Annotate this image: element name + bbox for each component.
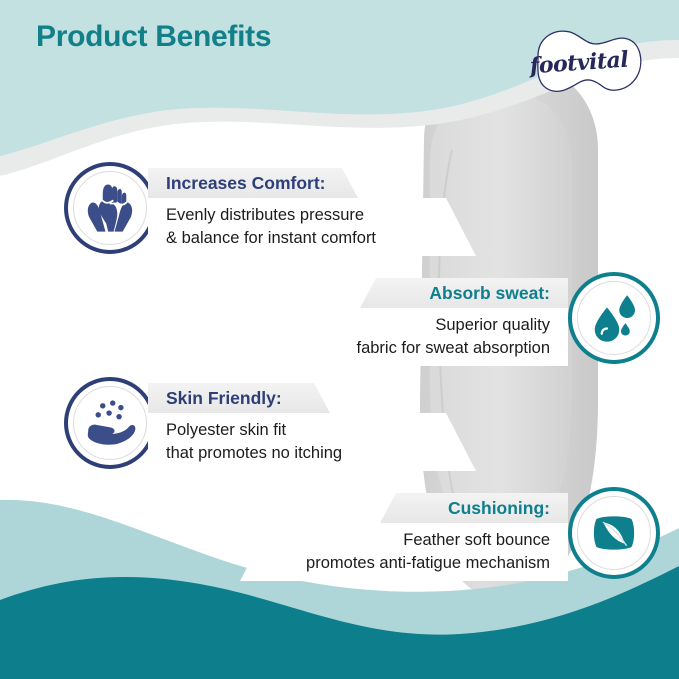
benefit-title: Increases Comfort: [148, 168, 358, 198]
page-title: Product Benefits [36, 20, 271, 54]
benefit-body: Feather soft bounce promotes anti-fatigu… [240, 523, 568, 581]
product-benefits-infographic: Product Benefits footvital [0, 0, 679, 679]
brand-logo: footvital [514, 26, 644, 100]
hand-with-particles-glyph [81, 394, 139, 452]
pillow-feather-icon [568, 487, 660, 579]
benefit-title: Skin Friendly: [148, 383, 330, 413]
benefit-body: Evenly distributes pressure & balance fo… [148, 198, 476, 256]
benefit-body-line: & balance for instant comfort [166, 227, 376, 250]
benefit-body-line: Superior quality [435, 314, 550, 337]
pillow-feather-glyph [586, 505, 642, 561]
benefit-body-line: Evenly distributes pressure [166, 204, 364, 227]
water-droplets-glyph [586, 290, 642, 346]
benefit-body-line: fabric for sweat absorption [356, 337, 550, 360]
hands-holding-foot-glyph [81, 179, 139, 237]
benefit-title: Cushioning: [380, 493, 568, 523]
benefit-body-line: Feather soft bounce [403, 529, 550, 552]
benefit-body-line: promotes anti-fatigue mechanism [306, 552, 550, 575]
benefit-title: Absorb sweat: [360, 278, 568, 308]
benefit-body: Superior quality fabric for sweat absorp… [240, 308, 568, 366]
water-droplets-icon [568, 272, 660, 364]
benefit-body-line: Polyester skin fit [166, 419, 286, 442]
hand-with-particles-icon [64, 377, 156, 469]
hands-holding-foot-icon [64, 162, 156, 254]
benefit-body: Polyester skin fit that promotes no itch… [148, 413, 476, 471]
brand-logo-text: footvital [512, 22, 647, 105]
benefit-body-line: that promotes no itching [166, 442, 342, 465]
